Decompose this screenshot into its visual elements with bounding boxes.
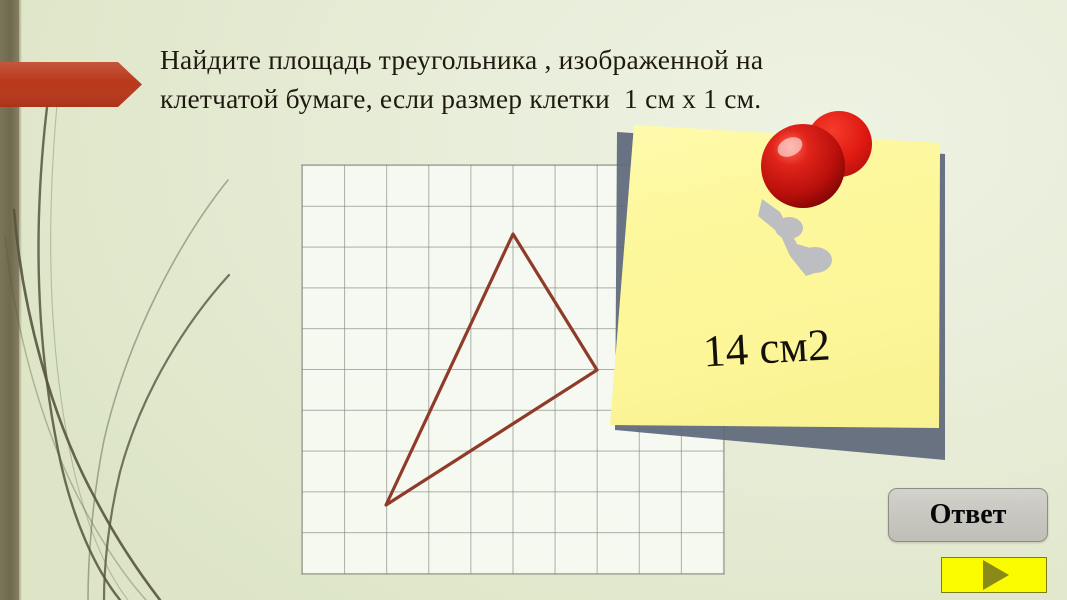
next-slide-button[interactable] — [941, 557, 1047, 593]
question-line-1: Найдите площадь треугольника , изображен… — [160, 40, 960, 79]
answer-button-label: Ответ — [930, 499, 1007, 531]
grass-decoration-icon — [0, 60, 230, 600]
slide-canvas: Найдите площадь треугольника , изображен… — [0, 0, 1067, 600]
right-arrow-banner-icon — [0, 62, 142, 107]
answer-button[interactable]: Ответ — [888, 488, 1048, 542]
play-triangle-icon — [983, 560, 1009, 590]
pushpin-icon — [740, 104, 880, 284]
